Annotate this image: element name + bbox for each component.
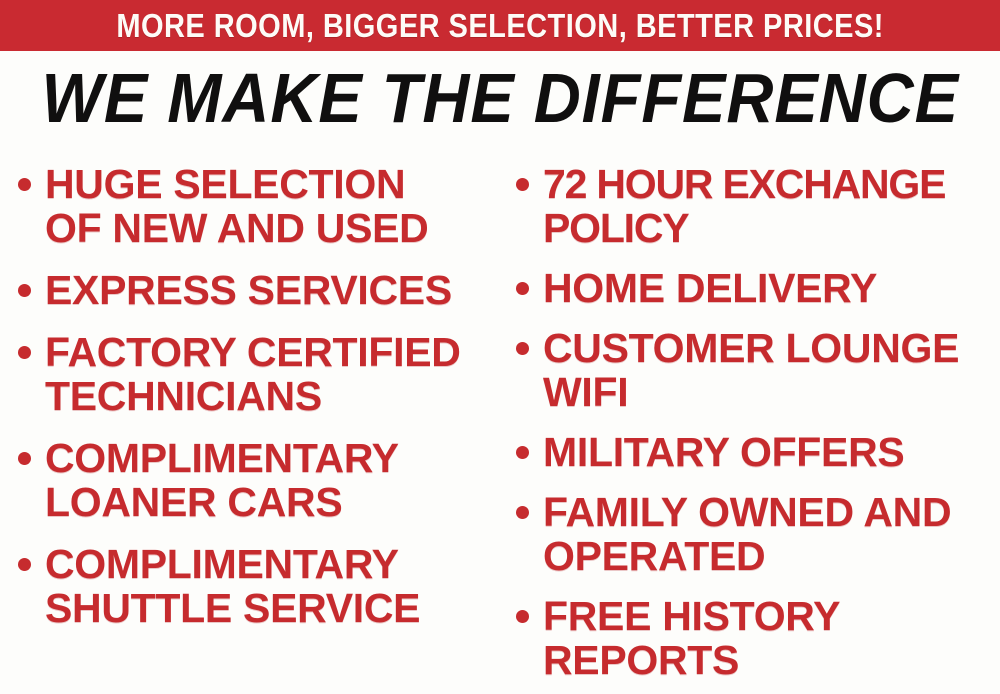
bullet-dot-icon bbox=[18, 558, 31, 571]
top-banner-text: MORE ROOM, BIGGER SELECTION, BETTER PRIC… bbox=[116, 9, 884, 42]
list-item-label: COMPLIMENTARY LOANER CARS bbox=[45, 436, 496, 524]
bullet-dot-icon bbox=[516, 178, 529, 191]
advertisement-graphic: MORE ROOM, BIGGER SELECTION, BETTER PRIC… bbox=[0, 0, 1000, 694]
bullet-dot-icon bbox=[18, 178, 31, 191]
bullet-dot-icon bbox=[516, 506, 529, 519]
list-item: 72 HOUR EXCHANGE POLICY bbox=[516, 162, 994, 250]
list-item-label: HOME DELIVERY bbox=[543, 266, 994, 310]
list-item: HOME DELIVERY bbox=[516, 266, 994, 310]
bullet-dot-icon bbox=[516, 610, 529, 623]
bullet-dot-icon bbox=[516, 282, 529, 295]
benefits-column-left: HUGE SELECTION OF NEW AND USED EXPRESS S… bbox=[18, 162, 496, 648]
bullet-dot-icon bbox=[18, 452, 31, 465]
list-item: FREE HISTORY REPORTS bbox=[516, 594, 994, 682]
list-item-label: HUGE SELECTION OF NEW AND USED bbox=[45, 162, 496, 250]
list-item: FACTORY CERTIFIED TECHNICIANS bbox=[18, 330, 496, 418]
list-item-label: EXPRESS SERVICES bbox=[45, 268, 496, 312]
page-title: WE MAKE THE DIFFERENCE bbox=[41, 62, 958, 134]
list-item: COMPLIMENTARY SHUTTLE SERVICE bbox=[18, 542, 496, 630]
bullet-dot-icon bbox=[18, 346, 31, 359]
bullet-dot-icon bbox=[516, 342, 529, 355]
bullet-dot-icon bbox=[18, 284, 31, 297]
headline-container: WE MAKE THE DIFFERENCE bbox=[0, 62, 1000, 134]
list-item-label: MILITARY OFFERS bbox=[543, 430, 994, 474]
list-item-label: FREE HISTORY REPORTS bbox=[543, 594, 994, 682]
list-item: HUGE SELECTION OF NEW AND USED bbox=[18, 162, 496, 250]
list-item-label: COMPLIMENTARY SHUTTLE SERVICE bbox=[45, 542, 496, 630]
list-item: EXPRESS SERVICES bbox=[18, 268, 496, 312]
list-item-label: CUSTOMER LOUNGE WIFI bbox=[543, 326, 994, 414]
list-item: MILITARY OFFERS bbox=[516, 430, 994, 474]
list-item-label: FACTORY CERTIFIED TECHNICIANS bbox=[45, 330, 496, 418]
bullet-dot-icon bbox=[516, 446, 529, 459]
list-item: CUSTOMER LOUNGE WIFI bbox=[516, 326, 994, 414]
benefits-columns: HUGE SELECTION OF NEW AND USED EXPRESS S… bbox=[0, 162, 1000, 682]
benefits-column-right: 72 HOUR EXCHANGE POLICY HOME DELIVERY CU… bbox=[516, 162, 994, 694]
list-item: FAMILY OWNED AND OPERATED bbox=[516, 490, 994, 578]
list-item-label: 72 HOUR EXCHANGE POLICY bbox=[543, 162, 994, 250]
top-banner: MORE ROOM, BIGGER SELECTION, BETTER PRIC… bbox=[0, 0, 1000, 51]
list-item: COMPLIMENTARY LOANER CARS bbox=[18, 436, 496, 524]
list-item-label: FAMILY OWNED AND OPERATED bbox=[543, 490, 994, 578]
